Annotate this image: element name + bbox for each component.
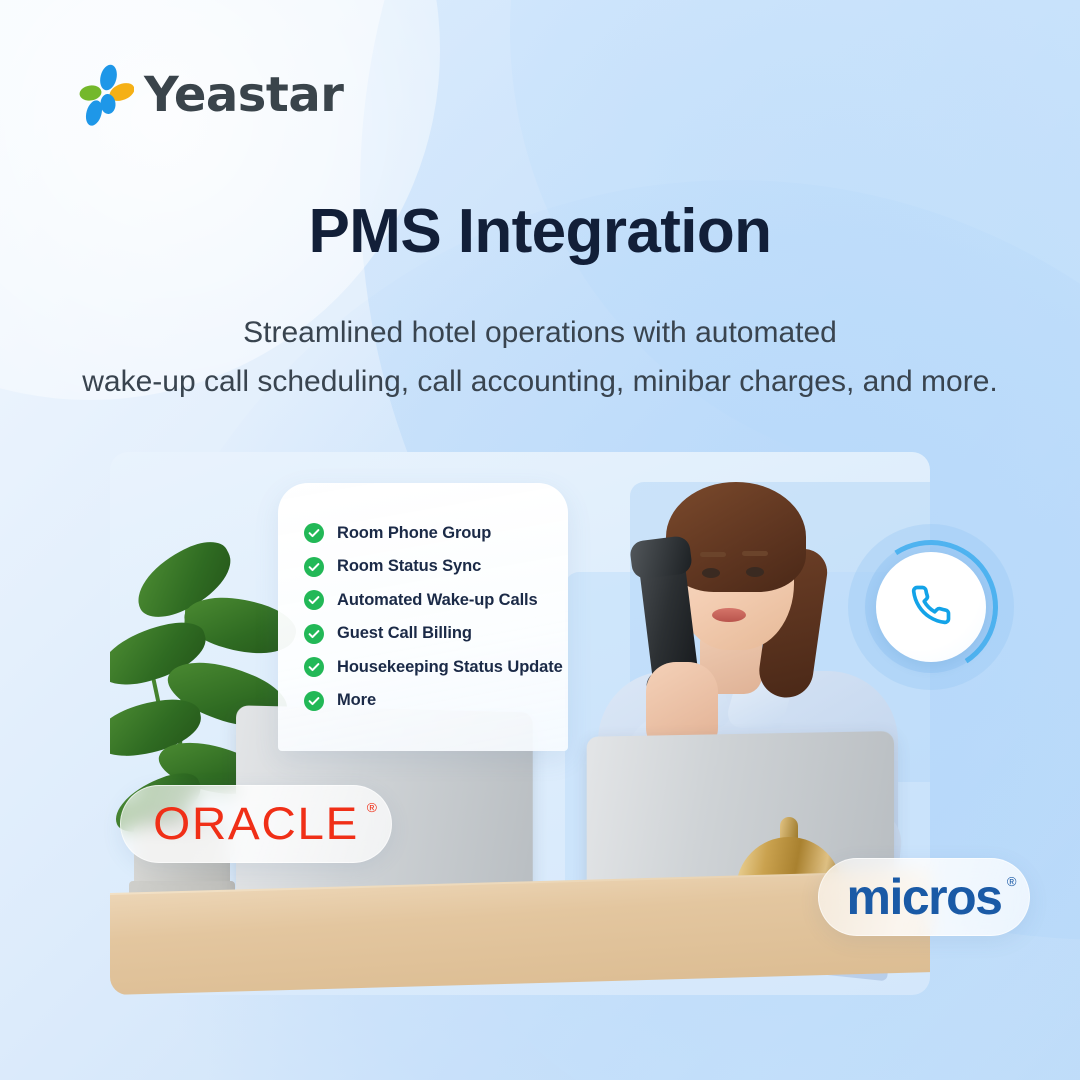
feature-label: Room Phone Group bbox=[337, 524, 491, 543]
poster-canvas: Yeastar PMS Integration Streamlined hote… bbox=[0, 0, 1080, 1080]
partner-badge-micros[interactable]: micros ® bbox=[818, 858, 1030, 936]
micros-registered-mark: ® bbox=[1007, 874, 1017, 889]
feature-label: Housekeeping Status Update bbox=[337, 658, 563, 677]
micros-wordmark: micros bbox=[847, 869, 1002, 925]
feature-label: Room Status Sync bbox=[337, 557, 481, 576]
oracle-wordmark: ORACLE bbox=[153, 798, 359, 849]
oracle-logo: ORACLE ® bbox=[153, 798, 359, 850]
eyebrow-right bbox=[742, 551, 768, 556]
lips bbox=[712, 608, 746, 622]
subtitle-line-1: Streamlined hotel operations with automa… bbox=[0, 308, 1080, 357]
phone-icon-circle bbox=[876, 552, 986, 662]
partner-badge-oracle[interactable]: ORACLE ® bbox=[120, 785, 392, 863]
eyebrow-left bbox=[700, 552, 726, 557]
hair bbox=[666, 482, 806, 592]
yeastar-wordmark: Yeastar bbox=[144, 67, 343, 123]
list-item[interactable]: Automated Wake-up Calls bbox=[304, 590, 568, 610]
check-circle-icon bbox=[304, 590, 324, 610]
page-subtitle: Streamlined hotel operations with automa… bbox=[0, 308, 1080, 406]
phone-handset-icon bbox=[910, 584, 952, 631]
eye-left bbox=[702, 568, 720, 578]
phone-badge[interactable] bbox=[848, 524, 1014, 690]
yeastar-logo[interactable]: Yeastar bbox=[78, 64, 343, 126]
check-circle-icon bbox=[304, 657, 324, 677]
micros-logo: micros ® bbox=[847, 868, 1002, 926]
feature-label: Guest Call Billing bbox=[337, 624, 472, 643]
page-title: PMS Integration bbox=[0, 196, 1080, 267]
check-circle-icon bbox=[304, 557, 324, 577]
check-circle-icon bbox=[304, 523, 324, 543]
check-circle-icon bbox=[304, 691, 324, 711]
list-item[interactable]: Room Phone Group bbox=[304, 523, 568, 543]
list-item[interactable]: Room Status Sync bbox=[304, 557, 568, 577]
check-circle-icon bbox=[304, 624, 324, 644]
subtitle-line-2: wake-up call scheduling, call accounting… bbox=[0, 357, 1080, 406]
list-item[interactable]: Housekeeping Status Update bbox=[304, 657, 568, 677]
list-item[interactable]: Guest Call Billing bbox=[304, 624, 568, 644]
oracle-registered-mark: ® bbox=[367, 800, 377, 815]
eye-right bbox=[746, 567, 764, 577]
list-item[interactable]: More bbox=[304, 691, 568, 711]
yeastar-pinwheel-icon bbox=[78, 64, 134, 126]
feature-list-card: Room Phone Group Room Status Sync Automa… bbox=[278, 483, 568, 751]
feature-label: More bbox=[337, 691, 376, 710]
feature-label: Automated Wake-up Calls bbox=[337, 591, 538, 610]
